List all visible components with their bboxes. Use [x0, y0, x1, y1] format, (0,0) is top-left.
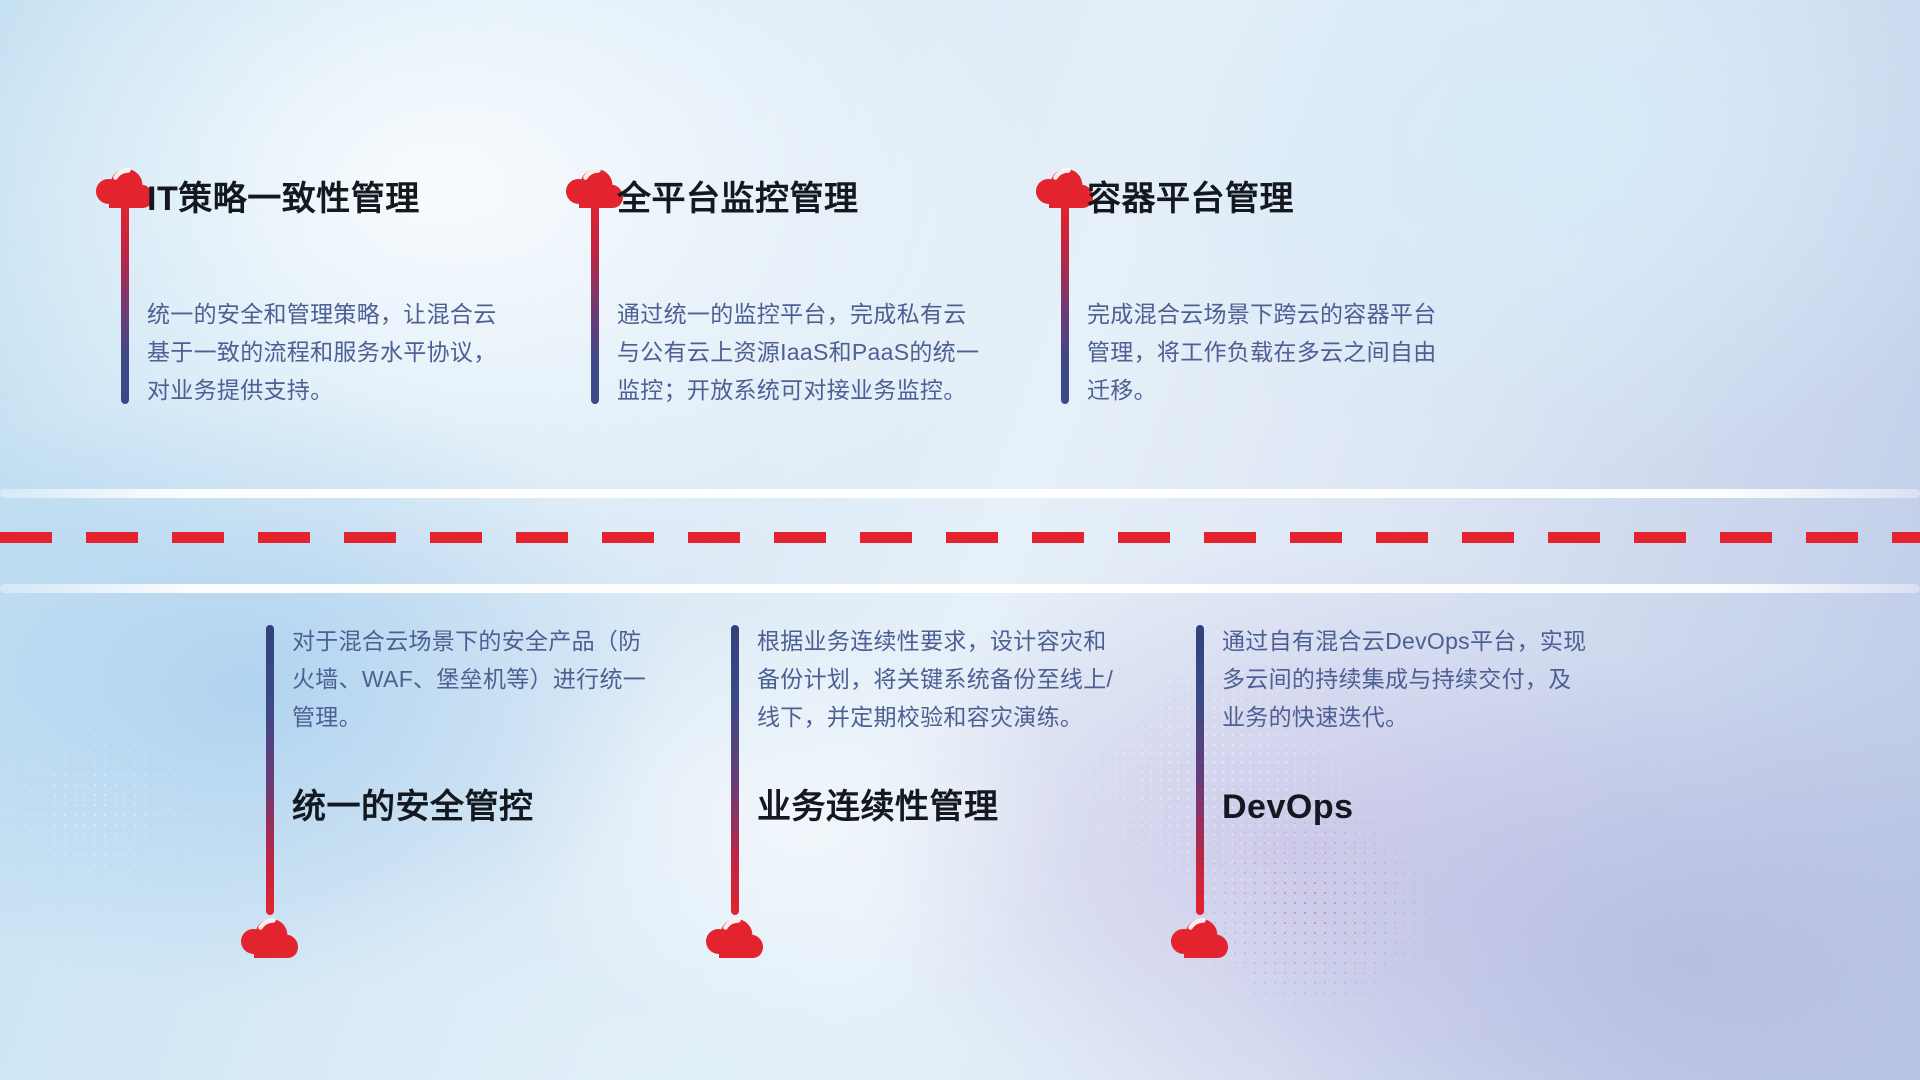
- item-description: 统一的安全和管理策略，让混合云基于一致的流程和服务水平协议，对业务提供支持。: [147, 295, 519, 409]
- item-description: 根据业务连续性要求，设计容灾和备份计划，将关键系统备份至线上/线下，并定期校验和…: [757, 622, 1129, 736]
- cloud-pin-icon: [705, 910, 769, 958]
- connector-line: [121, 204, 129, 404]
- item-title: DevOps: [1222, 790, 1354, 824]
- item-title: IT策略一致性管理: [147, 182, 420, 216]
- connector-line: [1196, 625, 1204, 915]
- connector-line: [266, 625, 274, 915]
- cloud-pin-icon: [240, 910, 304, 958]
- item-description: 对于混合云场景下的安全产品（防火墙、WAF、堡垒机等）进行统一管理。: [292, 622, 664, 736]
- timeline-rail-bottom: [0, 584, 1920, 593]
- item-title: 业务连续性管理: [757, 790, 999, 824]
- item-title: 容器平台管理: [1087, 182, 1294, 216]
- connector-line: [731, 625, 739, 915]
- timeline-divider: [0, 489, 1920, 599]
- item-description: 完成混合云场景下跨云的容器平台管理，将工作负载在多云之间自由迁移。: [1087, 295, 1459, 409]
- timeline-rail-top: [0, 489, 1920, 498]
- item-title: 统一的安全管控: [292, 790, 534, 824]
- infographic-canvas: IT策略一致性管理 统一的安全和管理策略，让混合云基于一致的流程和服务水平协议，…: [0, 0, 1920, 1080]
- item-description: 通过自有混合云DevOps平台，实现多云间的持续集成与持续交付，及业务的快速迭代…: [1222, 622, 1594, 736]
- decorative-dot-pattern-left: [0, 670, 269, 951]
- connector-line: [591, 204, 599, 404]
- item-title: 全平台监控管理: [617, 182, 859, 216]
- connector-line: [1061, 204, 1069, 404]
- red-dashed-timeline: [0, 532, 1920, 543]
- item-description: 通过统一的监控平台，完成私有云与公有云上资源IaaS和PaaS的统一监控；开放系…: [617, 295, 989, 409]
- cloud-pin-icon: [1170, 910, 1234, 958]
